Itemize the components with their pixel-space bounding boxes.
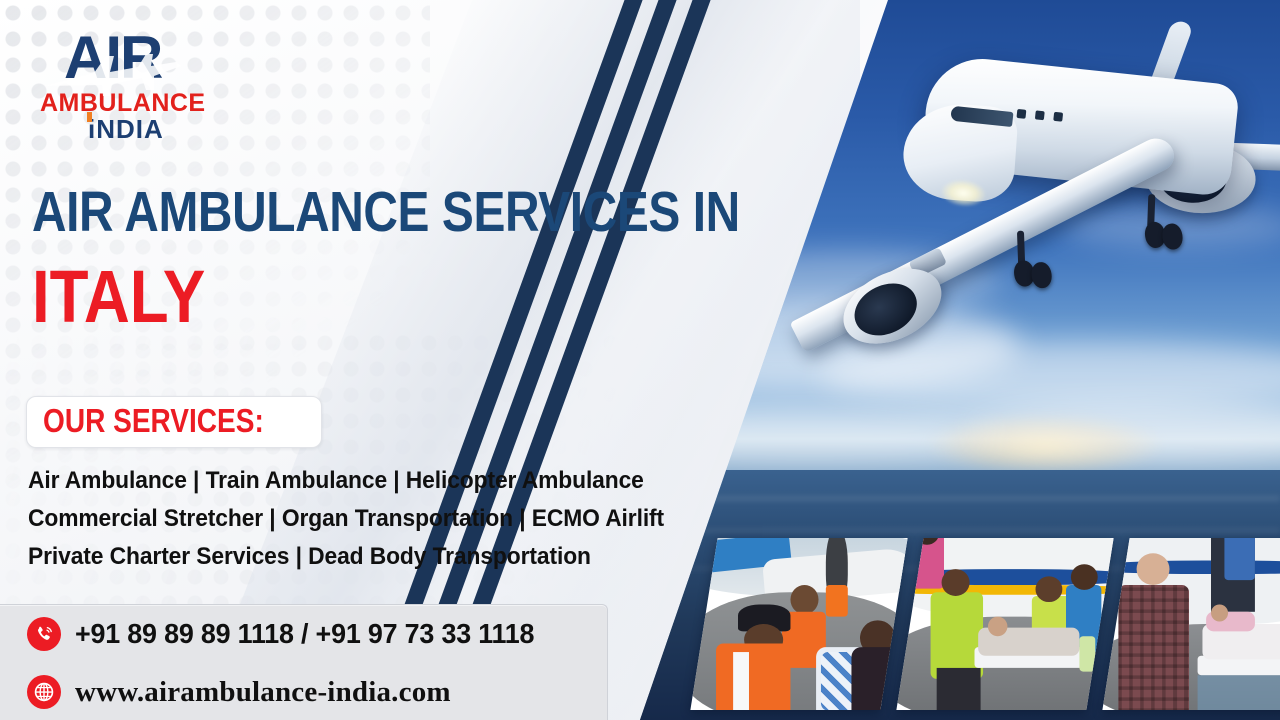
- service-line: Commercial Stretcher | Organ Transportat…: [28, 500, 617, 538]
- airplane-graphic: [795, 9, 1280, 431]
- poster-canvas: AIR AMBULANCE iNDIA AIR AMBULANCE SERVIC…: [0, 0, 1280, 720]
- headline-line-1: AIR AMBULANCE SERVICES IN: [32, 182, 570, 242]
- logo-india-label: iNDIA: [88, 114, 164, 144]
- website-row[interactable]: www.airambulance-india.com: [0, 663, 607, 720]
- headline-line-2: ITALY: [32, 258, 582, 336]
- logo-india-accent: [87, 112, 92, 122]
- website-url: www.airambulance-india.com: [75, 676, 451, 709]
- our-services-badge: OUR SERVICES:: [26, 396, 322, 448]
- thumbnail-3[interactable]: [1102, 538, 1280, 710]
- service-line: Private Charter Services | Dead Body Tra…: [28, 538, 617, 576]
- phone-icon: [27, 617, 61, 651]
- our-services-label: OUR SERVICES:: [43, 404, 264, 438]
- photo-thumbnail-strip: [666, 538, 1280, 720]
- phone-row[interactable]: +91 89 89 89 1118 / +91 97 73 33 1118: [0, 605, 607, 663]
- thumbnail-2-image: [896, 538, 1113, 710]
- page-title: AIR AMBULANCE SERVICES IN ITALY: [32, 182, 672, 336]
- logo-plane-icon: [42, 46, 192, 96]
- thumbnail-1-image: [690, 538, 907, 710]
- contact-bar: +91 89 89 89 1118 / +91 97 73 33 1118 ww…: [0, 604, 608, 720]
- brand-logo[interactable]: AIR AMBULANCE iNDIA: [40, 28, 240, 140]
- service-line: Air Ambulance | Train Ambulance | Helico…: [28, 462, 617, 500]
- services-list: Air Ambulance | Train Ambulance | Helico…: [28, 462, 648, 576]
- thumbnail-1[interactable]: [690, 538, 907, 710]
- logo-india-text: iNDIA: [88, 116, 240, 143]
- thumbnail-3-image: [1102, 538, 1280, 710]
- thumbnail-2[interactable]: [896, 538, 1113, 710]
- phone-number: +91 89 89 89 1118 / +91 97 73 33 1118: [75, 618, 534, 650]
- globe-icon: [27, 675, 61, 709]
